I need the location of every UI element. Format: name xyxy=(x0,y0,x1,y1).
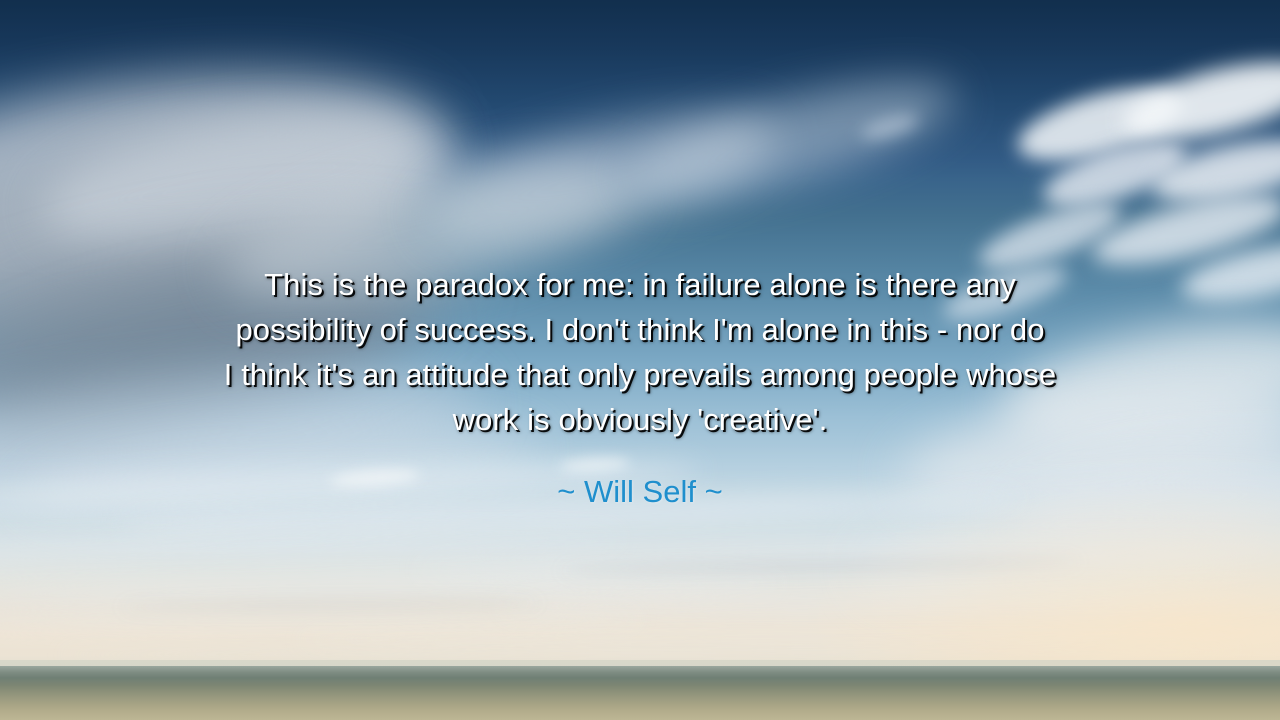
quote-image-canvas: This is the paradox for me: in failure a… xyxy=(0,0,1280,720)
quote-author: ~ Will Self ~ xyxy=(100,472,1180,512)
distant-landscape xyxy=(0,666,1280,720)
quote-block: This is the paradox for me: in failure a… xyxy=(0,262,1280,512)
quote-text: This is the paradox for me: in failure a… xyxy=(100,262,1180,442)
